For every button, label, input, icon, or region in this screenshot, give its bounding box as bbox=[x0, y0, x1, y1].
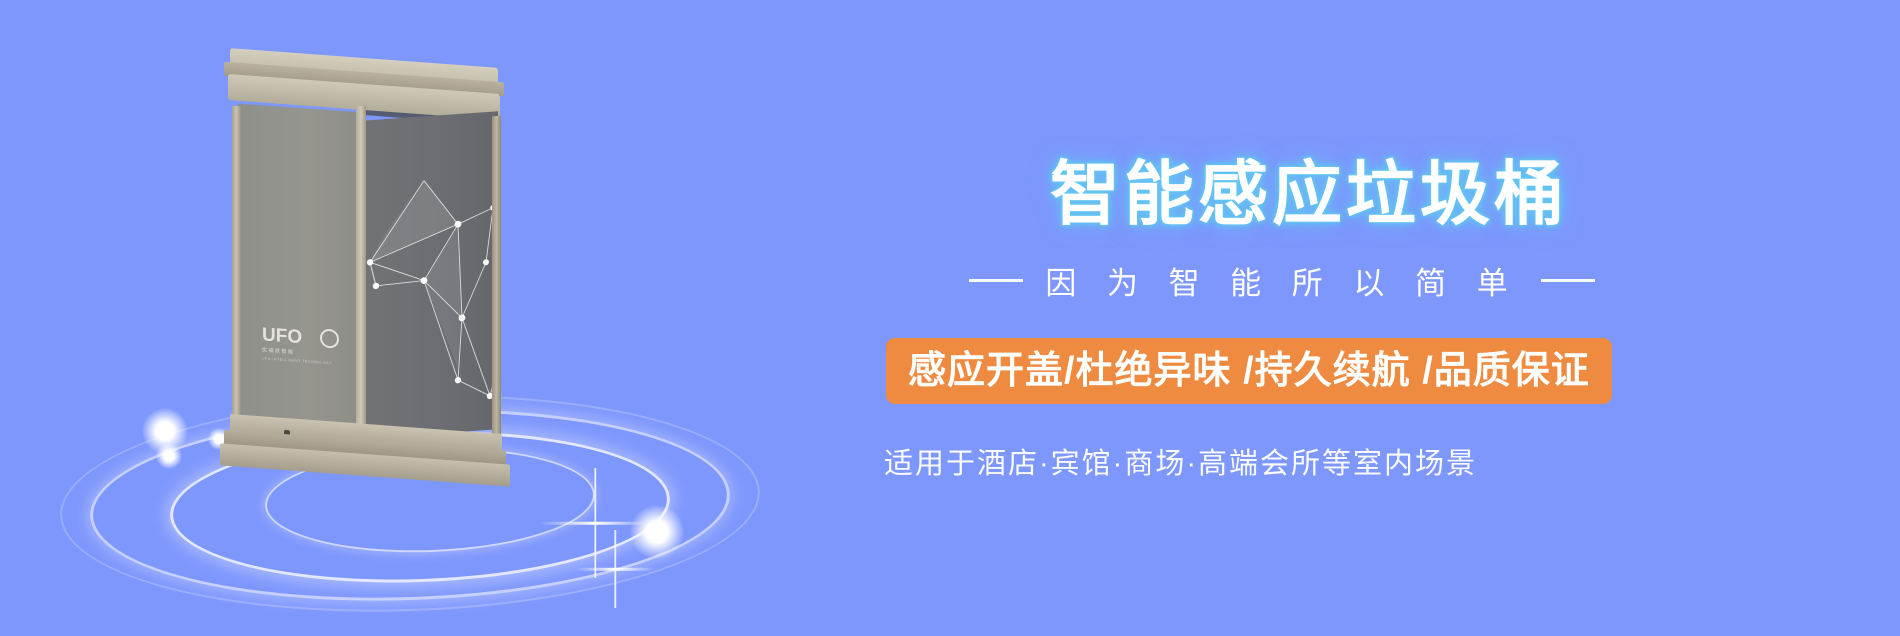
corner-post-left bbox=[232, 106, 241, 427]
feature-badge: 感应开盖/杜绝异味 /持久续航 /品质保证 bbox=[886, 338, 1612, 404]
copy-block: 智能感应垃圾桶 因 为 智 能 所 以 简 单 感应开盖/杜绝异味 /持久续航 … bbox=[860, 0, 1860, 636]
low-poly-network-graphic bbox=[362, 165, 502, 425]
page-title: 智能感应垃圾桶 bbox=[1050, 138, 1568, 239]
trash-can-product-image: UFO 优福欧智能 UFO INTELLIGENT TECHNOLOGY bbox=[210, 50, 520, 470]
product-stage: UFO 优福欧智能 UFO INTELLIGENT TECHNOLOGY bbox=[60, 40, 820, 610]
body-panel-left bbox=[238, 104, 362, 431]
promo-banner: UFO 优福欧智能 UFO INTELLIGENT TECHNOLOGY 智能感… bbox=[0, 0, 1900, 636]
product-logo: UFO 优福欧智能 UFO INTELLIGENT TECHNOLOGY bbox=[262, 325, 338, 378]
polynet-svg bbox=[362, 165, 502, 425]
subhead-text: 因 为 智 能 所 以 简 单 bbox=[1045, 258, 1518, 303]
scene-note: 适用于酒店·宾馆·商场·高端会所等室内场景 bbox=[884, 440, 1477, 482]
logo-ring-icon bbox=[320, 328, 339, 348]
rule-left bbox=[969, 279, 1023, 282]
feature-badge-text: 感应开盖/杜绝异味 /持久续航 /品质保证 bbox=[908, 352, 1590, 390]
glow-orb-right bbox=[630, 505, 684, 559]
corner-post-right bbox=[492, 116, 501, 437]
glow-orb-left-small bbox=[156, 443, 182, 469]
corner-post-center bbox=[356, 106, 366, 436]
subhead-row: 因 为 智 能 所 以 简 单 bbox=[902, 258, 1662, 303]
rule-right bbox=[1541, 279, 1595, 282]
